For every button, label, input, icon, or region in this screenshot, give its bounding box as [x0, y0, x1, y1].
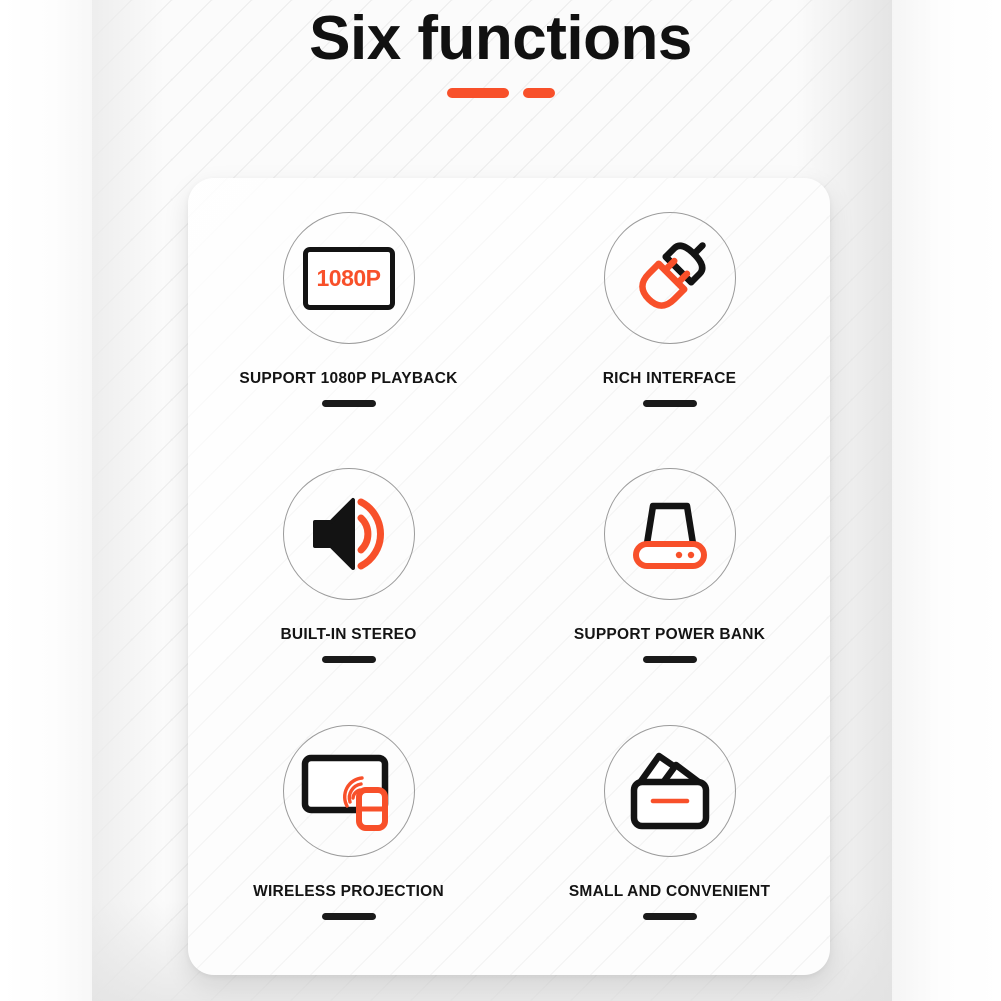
page-edge-right — [891, 0, 1001, 1001]
page-edge-left — [0, 0, 92, 1001]
feature-underline — [322, 656, 376, 663]
divider-dash-long — [447, 88, 509, 98]
feature-icon-circle — [604, 468, 736, 600]
feature-label: SUPPORT POWER BANK — [574, 626, 765, 644]
feature-cell-built-in-stereo[interactable]: BUILT-IN STEREO — [188, 452, 509, 708]
feature-icon-circle — [283, 725, 415, 857]
page-title: Six functions — [0, 6, 1001, 71]
speaker-volume-icon — [303, 492, 395, 576]
wallet-icon — [622, 749, 718, 833]
feature-label: RICH INTERFACE — [603, 370, 737, 388]
feature-cell-rich-interface[interactable]: RICH INTERFACE — [509, 196, 830, 452]
features-card: 1080P SUPPORT 1080P PLAYBACK — [188, 178, 830, 975]
poster-page: Six functions 1080P SUPPORT 1080P PLAYBA… — [0, 0, 1001, 1001]
feature-underline — [643, 913, 697, 920]
1080p-icon-text: 1080P — [316, 267, 380, 290]
feature-label: SUPPORT 1080P PLAYBACK — [239, 370, 457, 388]
feature-underline — [322, 400, 376, 407]
feature-icon-circle — [604, 212, 736, 344]
wireless-screen-mirroring-icon — [297, 748, 401, 834]
feature-icon-circle — [283, 468, 415, 600]
feature-underline — [643, 656, 697, 663]
power-bank-icon — [623, 494, 717, 574]
feature-cell-support-1080p-playback[interactable]: 1080P SUPPORT 1080P PLAYBACK — [188, 196, 509, 452]
poster-header: Six functions — [0, 6, 1001, 98]
title-divider — [0, 88, 1001, 98]
features-grid: 1080P SUPPORT 1080P PLAYBACK — [188, 178, 830, 975]
feature-underline — [643, 400, 697, 407]
feature-cell-support-power-bank[interactable]: SUPPORT POWER BANK — [509, 452, 830, 708]
feature-icon-circle — [604, 725, 736, 857]
feature-label: SMALL AND CONVENIENT — [569, 883, 770, 901]
1080p-screen-icon: 1080P — [303, 247, 395, 310]
feature-underline — [322, 913, 376, 920]
feature-label: WIRELESS PROJECTION — [253, 883, 444, 901]
feature-cell-wireless-projection[interactable]: WIRELESS PROJECTION — [188, 709, 509, 965]
power-plug-icon — [622, 230, 718, 326]
divider-dash-short — [523, 88, 555, 98]
feature-cell-small-and-convenient[interactable]: SMALL AND CONVENIENT — [509, 709, 830, 965]
feature-label: BUILT-IN STEREO — [280, 626, 416, 644]
feature-icon-circle: 1080P — [283, 212, 415, 344]
